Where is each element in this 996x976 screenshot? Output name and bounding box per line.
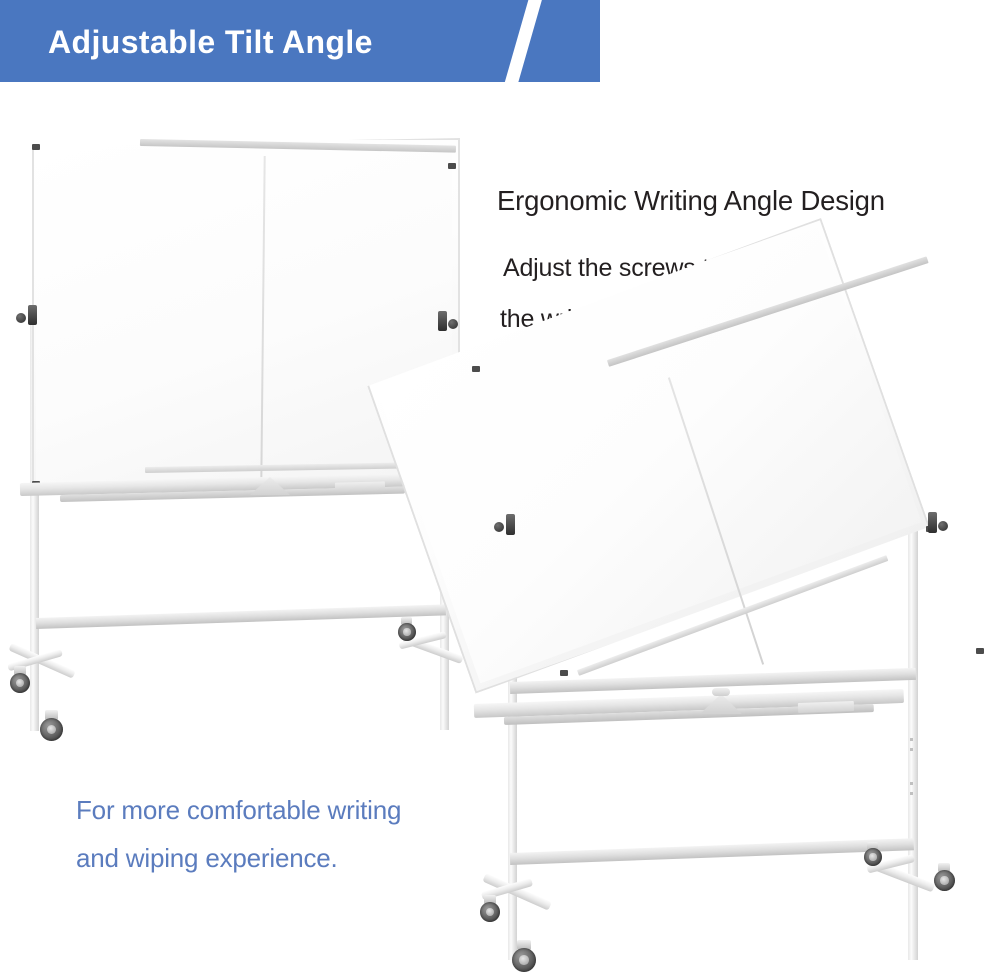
caster-wheel	[10, 673, 30, 693]
frame-corner-cap	[448, 163, 456, 169]
height-adjust-holes	[910, 782, 913, 785]
pivot-knob[interactable]	[506, 514, 515, 535]
caster-wheel	[934, 870, 955, 891]
footnote-line-2: and wiping experience.	[76, 843, 338, 874]
pen-tray-clip	[798, 701, 854, 713]
left-board-crossbar	[36, 604, 446, 629]
height-adjust-holes	[910, 738, 913, 741]
frame-corner-cap	[560, 670, 568, 676]
pen-tray-clip	[335, 481, 385, 491]
frame-corner-cap	[976, 648, 984, 654]
banner-title: Adjustable Tilt Angle	[48, 16, 478, 68]
pen-tray-knob[interactable]	[712, 688, 730, 696]
height-adjust-holes	[910, 792, 913, 795]
pivot-knob[interactable]	[28, 305, 37, 325]
diagonal-slash-icon	[502, 0, 542, 94]
caster-wheel	[864, 848, 882, 866]
caster-wheel	[398, 623, 416, 641]
height-adjust-holes	[910, 748, 913, 751]
product-feature-image: Adjustable Tilt Angle Ergonomic Writing …	[0, 0, 996, 976]
right-whiteboard-unit	[460, 330, 996, 976]
frame-corner-cap	[32, 144, 40, 150]
pivot-knob[interactable]	[928, 512, 937, 533]
footnote-line-1: For more comfortable writing	[76, 795, 401, 826]
caster-wheel	[512, 948, 536, 972]
caster-wheel	[40, 718, 63, 741]
right-board-crossbar-lower	[510, 838, 914, 865]
frame-corner-cap	[472, 366, 480, 372]
pivot-knob[interactable]	[438, 311, 447, 331]
caster-wheel	[480, 902, 500, 922]
headline-text: Ergonomic Writing Angle Design	[497, 185, 992, 217]
header-banner: Adjustable Tilt Angle	[0, 0, 600, 82]
